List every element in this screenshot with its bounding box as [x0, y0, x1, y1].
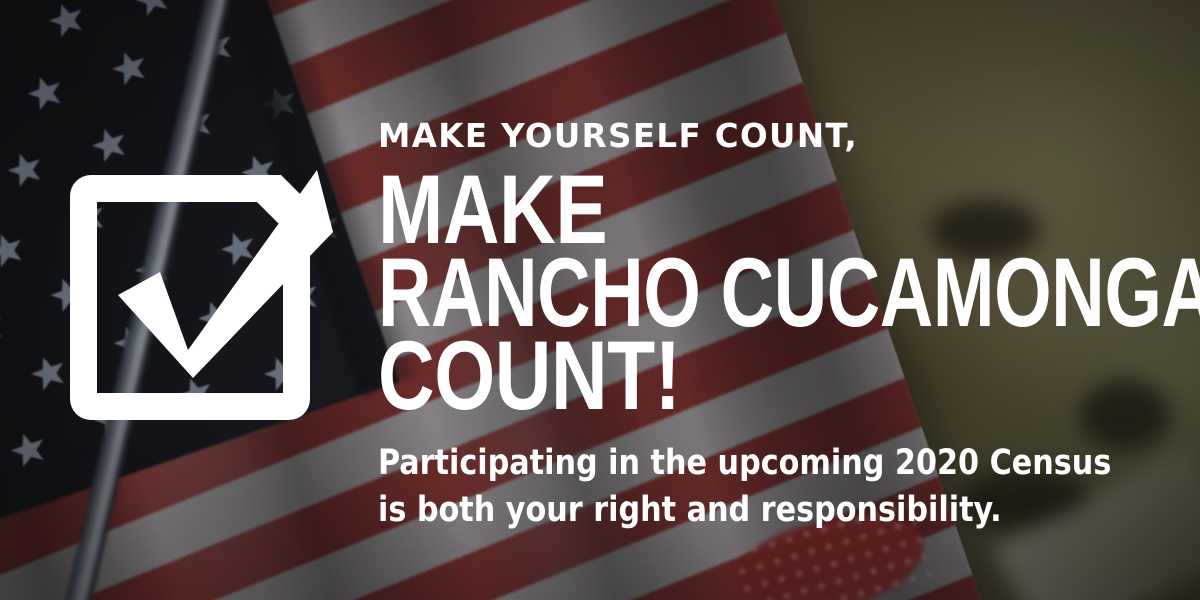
headline: MAKE RANCHO CUCAMONGA COUNT!	[378, 168, 1200, 416]
subcopy-line-2: is both your right and responsibility.	[378, 487, 1111, 534]
subcopy: Participating in the upcoming 2020 Censu…	[378, 440, 1111, 533]
census-promo-poster: MAKE YOURSELF COUNT, MAKE RANCHO CUCAMON…	[0, 0, 1200, 600]
kicker-line: MAKE YOURSELF COUNT,	[378, 119, 858, 152]
headline-line-3: COUNT!	[378, 334, 1200, 417]
checkbox-checked-icon	[55, 160, 345, 435]
subcopy-line-1: Participating in the upcoming 2020 Censu…	[378, 440, 1111, 487]
poster-copy: MAKE YOURSELF COUNT, MAKE RANCHO CUCAMON…	[378, 0, 1168, 600]
